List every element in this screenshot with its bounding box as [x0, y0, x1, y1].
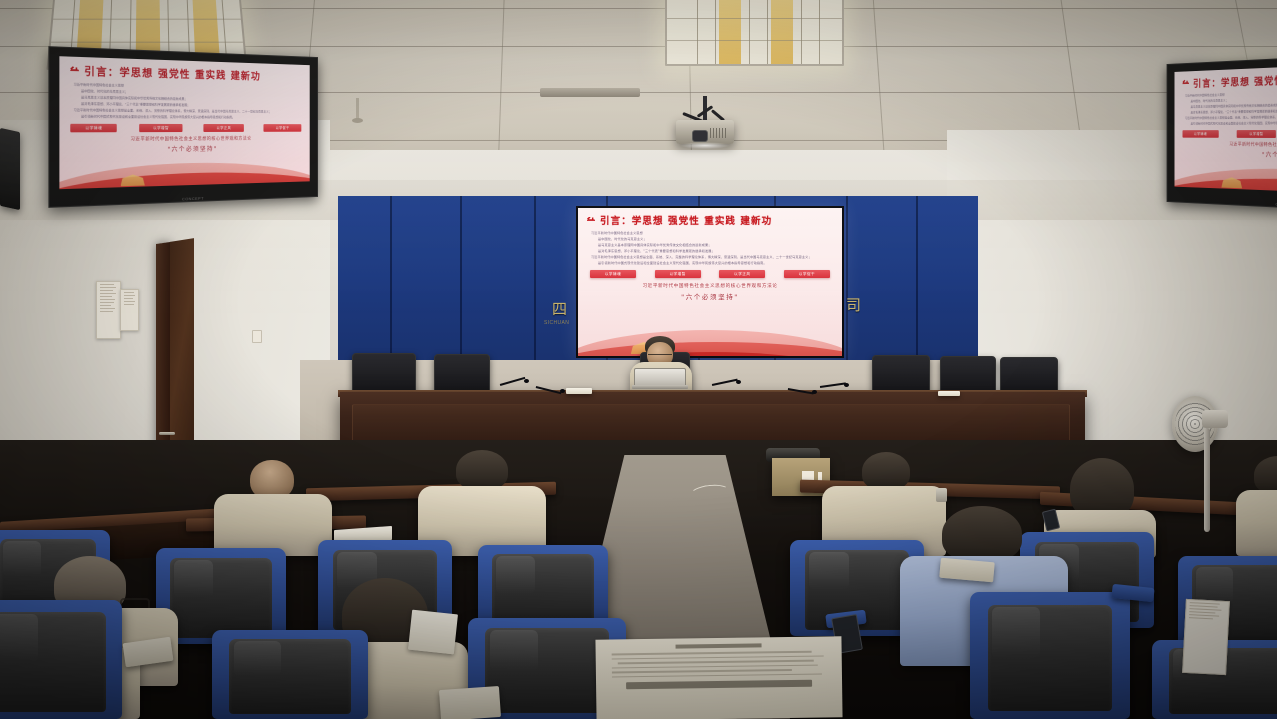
- sprinkler-head-icon: [356, 98, 359, 120]
- venue-sign-char-right: 司: [846, 298, 861, 313]
- light-switch[interactable]: [252, 330, 262, 343]
- slide-pill: 以学正风: [203, 124, 243, 132]
- desk-notebook: [566, 388, 592, 394]
- ceiling-duct: [540, 88, 640, 97]
- wall-speaker: [0, 128, 20, 210]
- party-emblem-icon: [586, 216, 597, 225]
- slide-pill: 以学增智: [1237, 130, 1276, 138]
- presenter-glasses-icon: [648, 354, 672, 358]
- slide-pill: 以学增智: [655, 270, 701, 278]
- slide-title: 引言：学思想 强党性 重实践 建新功: [600, 213, 772, 227]
- right-monitor-screen: 引言：学思想 强党性 重实践 建新功 习近平新时代中国特色社会主义思想 是中国化…: [1175, 61, 1277, 196]
- slide-body-line: 是引领新时代中国式现代化建设和全面建设社会主义现代化强国、实现中华民族伟大复兴的…: [74, 113, 302, 120]
- slide-wave-decoration: [578, 322, 842, 356]
- right-wall-monitor: 引言：学思想 强党性 重实践 建新功 习近平新时代中国特色社会主义思想 是中国化…: [1167, 51, 1277, 215]
- fan-pole: [1204, 428, 1210, 532]
- pedestal-fan[interactable]: [1172, 392, 1236, 532]
- slide-title-row: 引言：学思想 强党性 重实践 建新功: [578, 208, 842, 227]
- attendee-hair: [942, 506, 1022, 562]
- chair-tablet-arm: [439, 686, 501, 719]
- slide-pill: 以学铸魂: [1182, 130, 1218, 138]
- slide-pill: 以学促干: [784, 270, 830, 278]
- attendee-hair: [862, 452, 910, 490]
- auditorium-chair[interactable]: [212, 630, 368, 719]
- auditorium-chair[interactable]: [0, 600, 122, 719]
- drink-can: [936, 488, 947, 502]
- projector-lens-icon: [692, 130, 708, 142]
- printed-handout: [595, 636, 842, 719]
- presentation-slide: 引言：学思想 强党性 重实践 建新功 习近平新时代中国特色社会主义思想 是中国化…: [578, 208, 842, 356]
- left-wall-monitor: 引言：学思想 强党性 重实践 建新功 习近平新时代中国特色社会主义思想 是中国化…: [48, 46, 318, 208]
- seat-paper: [1182, 599, 1230, 675]
- fan-motor: [1202, 410, 1228, 428]
- wall-notice-poster: [96, 281, 121, 339]
- venue-sign-sub: SICHUAN: [544, 320, 569, 326]
- attendee: [214, 460, 334, 556]
- slide-pill: 以学正风: [719, 270, 765, 278]
- attendee-notebook: [408, 610, 458, 655]
- slide-body-line: 是引领新时代中国式现代化建设和全面建设社会主义现代化强国、实现中华民族伟大复兴的…: [1185, 119, 1277, 127]
- ceiling-light-panel: [665, 0, 844, 66]
- wall-notice-poster: [120, 289, 139, 331]
- door-handle[interactable]: [159, 432, 175, 435]
- attendee-hair: [1254, 456, 1277, 494]
- attendee-hair: [456, 450, 508, 490]
- slide-title: 引言：学思想 强党性 重实践 建新功: [1193, 69, 1277, 90]
- projector-glow: [680, 142, 730, 149]
- slide-footer-line-1: 习近平新时代中国特色社会主义思想的核心世界观和方法论: [578, 278, 842, 289]
- party-emblem-icon: [69, 65, 81, 75]
- slide-body: 习近平新时代中国特色社会主义思想 是中国化、时代化的马克思主义； 是马克思主义基…: [578, 227, 842, 266]
- presenter-laptop[interactable]: [632, 368, 688, 390]
- desk-notebook: [938, 391, 960, 396]
- slide-pill: 以学铸魂: [70, 124, 116, 133]
- left-monitor-screen: 引言：学思想 强党性 重实践 建新功 习近平新时代中国特色社会主义思想 是中国化…: [59, 56, 309, 189]
- projection-screen: 引言：学思想 强党性 重实践 建新功 习近平新时代中国特色社会主义思想 是中国化…: [576, 206, 844, 358]
- slide-footer-line-2: "六个必须坚持": [578, 289, 842, 301]
- party-emblem-icon: [1182, 79, 1191, 88]
- venue-sign-char-left: 四: [552, 302, 567, 317]
- slide-pill: 以学促干: [263, 124, 301, 132]
- ceiling-projector: [676, 96, 734, 152]
- slide-pill: 以学铸魂: [590, 270, 636, 278]
- conference-room-photo: 四 SICHUAN 司 引言：学思想 强党性 重实践 建新功 习近平新时代中国特…: [0, 0, 1277, 719]
- monitor-brand-label: CONCEPT: [182, 196, 204, 202]
- sprinkler-head-icon: [352, 118, 363, 123]
- slide-body-line: 是引领新时代中国式现代化建设和全面建设社会主义现代化强国、实现中华民族伟大复兴的…: [591, 260, 830, 266]
- slide-pill: 以学增智: [139, 124, 182, 132]
- slide-pill-row: 以学铸魂 以学增智 以学正风 以学促干: [578, 266, 842, 278]
- auditorium-chair[interactable]: [970, 592, 1130, 719]
- attendee-torso: [214, 494, 332, 556]
- attendee: [1236, 456, 1277, 556]
- attendee-torso: [1236, 490, 1277, 556]
- projector-vents: [710, 128, 728, 138]
